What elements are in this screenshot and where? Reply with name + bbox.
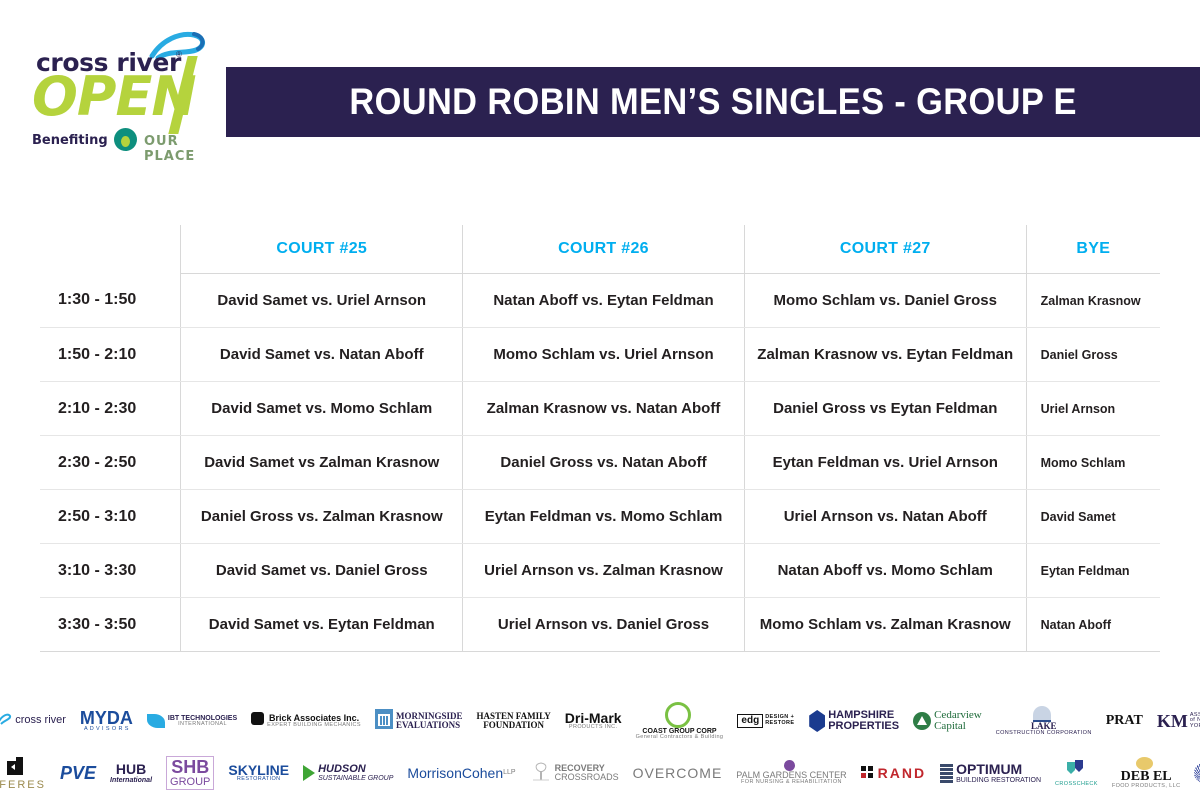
logo-registered-mark: ® bbox=[176, 50, 182, 59]
sponsor-logo-rand: RAND bbox=[861, 766, 926, 780]
sponsor-logo-edg-design-restore: edg DESIGN + RESTORE bbox=[737, 714, 795, 728]
table-row: 1:50 - 2:10 David Samet vs. Natan Aboff … bbox=[40, 328, 1160, 382]
cell-bye: Uriel Arnson bbox=[1026, 382, 1160, 436]
cell-time: 2:50 - 3:10 bbox=[40, 490, 181, 544]
cell-court-26: Zalman Krasnow vs. Natan Aboff bbox=[463, 382, 745, 436]
sponsor-logo-brick-associates: Brick Associates Inc. EXPERT BUILDING ME… bbox=[251, 712, 361, 729]
schedule-table: COURT #25 COURT #26 COURT #27 BYE 1:30 -… bbox=[40, 225, 1160, 652]
sponsor-logo-myda-advisors: MYDA A D V I S O R S bbox=[80, 709, 133, 733]
page-title: ROUND ROBIN MEN’S SINGLES - GROUP E bbox=[349, 81, 1076, 123]
column-header-court-25: COURT #25 bbox=[181, 225, 463, 274]
sponsor-logo-km-associates: KM ASSOCIATES of NEW YORK bbox=[1157, 712, 1200, 730]
sponsor-logo-deb-el: DEB EL FOOD PRODUCTS, LLC bbox=[1112, 757, 1181, 790]
sponsor-tagline: CROSSROADS bbox=[555, 773, 619, 782]
building-icon bbox=[375, 709, 393, 733]
sponsor-tagline: PRODUCTS INC. bbox=[569, 725, 618, 731]
sponsor-logo-skyline-restoration: SKYLINE RESTORATION bbox=[228, 763, 289, 783]
sponsor-name: HUDSON bbox=[318, 764, 366, 775]
sponsor-tagline: Capital bbox=[934, 721, 966, 732]
sponsor-logo-hasten-family-foundation: HASTEN FAMILY FOUNDATION bbox=[477, 712, 551, 730]
column-header-bye: BYE bbox=[1026, 225, 1160, 274]
sponsor-logo-shb-group: SHB GROUP bbox=[166, 756, 214, 790]
sponsor-logo-optimum-building-restoration: OPTIMUM BUILDING RESTORATION bbox=[940, 762, 1041, 783]
cell-court-25: Daniel Gross vs. Zalman Krasnow bbox=[181, 490, 463, 544]
cell-court-26: Natan Aboff vs. Eytan Feldman bbox=[463, 274, 745, 328]
logo-open-text: OPEN bbox=[32, 70, 196, 124]
cell-court-27: Daniel Gross vs Eytan Feldman bbox=[744, 382, 1026, 436]
cell-court-27: Uriel Arnson vs. Natan Aboff bbox=[744, 490, 1026, 544]
cell-bye: Eytan Feldman bbox=[1026, 544, 1160, 598]
sponsor-tagline: EVALUATIONS bbox=[396, 721, 460, 730]
sponsor-logo-lake-construction: LAKE CONSTRUCTION CORPORATION bbox=[996, 706, 1092, 737]
sponsor-logo-fan-emblem bbox=[1194, 763, 1200, 783]
sponsor-logo-hub-international: HUB International bbox=[110, 762, 152, 783]
sponsor-logo-morrison-cohen: MorrisonCohen LLP bbox=[407, 766, 515, 780]
beneficiary-label: OUR PLACE bbox=[144, 134, 210, 164]
cell-court-27: Momo Schlam vs. Zalman Krasnow bbox=[744, 598, 1026, 652]
sponsor-tagline: FOR NURSING & REHABILITATION bbox=[741, 780, 842, 786]
sponsor-name: TIFERES bbox=[0, 780, 46, 791]
cell-court-27: Eytan Feldman vs. Uriel Arnson bbox=[744, 436, 1026, 490]
sponsor-name: MorrisonCohen bbox=[407, 766, 503, 780]
table-row: 2:30 - 2:50 David Samet vs Zalman Krasno… bbox=[40, 436, 1160, 490]
brick-icon bbox=[251, 712, 264, 729]
sponsor-tagline: General Contractors & Building bbox=[636, 735, 724, 741]
sponsor-logo-cedarview-capital: Cedarview Capital bbox=[913, 710, 982, 732]
sponsor-logo-tiferes: TIFERES bbox=[0, 755, 46, 791]
sponsor-tagline: FOOD PRODUCTS, LLC bbox=[1112, 784, 1181, 790]
table-header-row: COURT #25 COURT #26 COURT #27 BYE bbox=[40, 225, 1160, 274]
our-place-icon bbox=[114, 128, 137, 151]
cell-bye: Zalman Krasnow bbox=[1026, 274, 1160, 328]
sponsor-tagline: A D V I S O R S bbox=[84, 727, 129, 733]
sponsor-logo-hudson-sustainable-group: HUDSON SUSTAINABLE GROUP bbox=[303, 764, 393, 782]
fan-icon bbox=[1194, 763, 1200, 783]
sponsor-tagline: INTERNATIONAL bbox=[178, 722, 227, 728]
sponsor-name: cross river bbox=[15, 715, 66, 726]
column-header-time bbox=[40, 225, 181, 274]
sponsor-tagline: GROUP bbox=[170, 777, 210, 788]
cell-time: 1:30 - 1:50 bbox=[40, 274, 181, 328]
sponsor-name: Dri-Mark bbox=[565, 711, 622, 725]
schedule-table-body: 1:30 - 1:50 David Samet vs. Uriel Arnson… bbox=[40, 274, 1160, 652]
sponsor-tagline: EXPERT BUILDING MECHANICS bbox=[267, 723, 361, 729]
ring-icon bbox=[665, 702, 691, 728]
sponsor-name: SKYLINE bbox=[228, 763, 289, 777]
swoosh-icon bbox=[0, 712, 12, 730]
sponsor-tagline: CONSTRUCTION CORPORATION bbox=[996, 731, 1092, 737]
hexagon-icon bbox=[809, 710, 825, 732]
sponsor-tagline: PROPERTIES bbox=[828, 721, 899, 732]
cell-court-25: David Samet vs. Eytan Feldman bbox=[181, 598, 463, 652]
sponsor-tagline: RESTORATION bbox=[237, 777, 281, 783]
cell-time: 1:50 - 2:10 bbox=[40, 328, 181, 382]
page-header: cross river ® OPEN Benefiting OUR PLACE … bbox=[0, 0, 1200, 200]
cell-court-25: David Samet vs. Natan Aboff bbox=[181, 328, 463, 382]
wave-icon bbox=[147, 714, 165, 728]
cell-time: 3:30 - 3:50 bbox=[40, 598, 181, 652]
sponsor-name: RAND bbox=[878, 766, 926, 780]
sponsor-logo-pve: PVE bbox=[60, 764, 96, 782]
sponsor-tagline: DESIGN + RESTORE bbox=[765, 715, 795, 726]
sponsor-row-1: cross river MYDA A D V I S O R S IBT TEC… bbox=[0, 695, 1200, 747]
sponsor-name: OVERCOME bbox=[633, 766, 723, 780]
cell-court-27: Natan Aboff vs. Momo Schlam bbox=[744, 544, 1026, 598]
table-row: 2:10 - 2:30 David Samet vs. Momo Schlam … bbox=[40, 382, 1160, 436]
sponsor-logo-morningside-evaluations: MORNINGSIDE EVALUATIONS bbox=[375, 709, 463, 733]
table-row: 1:30 - 1:50 David Samet vs. Uriel Arnson… bbox=[40, 274, 1160, 328]
cell-court-25: David Samet vs. Uriel Arnson bbox=[181, 274, 463, 328]
sponsor-tagline: International bbox=[110, 777, 152, 784]
cell-bye: Momo Schlam bbox=[1026, 436, 1160, 490]
sponsor-name: DEB EL bbox=[1121, 770, 1172, 784]
cell-bye: Natan Aboff bbox=[1026, 598, 1160, 652]
cell-court-27: Zalman Krasnow vs. Eytan Feldman bbox=[744, 328, 1026, 382]
sponsor-name: SHB bbox=[171, 758, 209, 776]
sponsor-name: PRAT bbox=[1106, 714, 1143, 728]
title-banner: ROUND ROBIN MEN’S SINGLES - GROUP E bbox=[226, 67, 1200, 137]
tree-icon bbox=[530, 760, 552, 786]
arrow-icon bbox=[3, 755, 25, 779]
sponsor-logo-hampshire-properties: HAMPSHIRE PROPERTIES bbox=[809, 710, 899, 732]
cell-court-27: Momo Schlam vs. Daniel Gross bbox=[744, 274, 1026, 328]
sponsor-bar: cross river MYDA A D V I S O R S IBT TEC… bbox=[0, 695, 1200, 800]
arch-icon bbox=[1033, 706, 1051, 722]
building-icon bbox=[940, 763, 953, 783]
check-icon bbox=[1065, 758, 1085, 782]
tree-circle-icon bbox=[913, 712, 931, 730]
cell-court-25: David Samet vs. Daniel Gross bbox=[181, 544, 463, 598]
sponsor-name: OPTIMUM bbox=[956, 762, 1022, 776]
sponsor-tagline: LLP bbox=[503, 769, 515, 776]
sponsor-name: HUB bbox=[116, 762, 146, 776]
sponsor-tagline: SUSTAINABLE GROUP bbox=[318, 775, 393, 782]
sponsor-tagline: BUILDING RESTORATION bbox=[956, 777, 1041, 784]
benefiting-label: Benefiting bbox=[32, 133, 108, 148]
sponsor-name: PVE bbox=[60, 764, 96, 782]
table-row: 2:50 - 3:10 Daniel Gross vs. Zalman Kras… bbox=[40, 490, 1160, 544]
sponsor-tagline: ASSOCIATES of NEW YORK bbox=[1190, 713, 1200, 730]
sponsor-logo-coast-group-corp: COAST GROUP CORP General Contractors & B… bbox=[636, 702, 724, 741]
cell-bye: Daniel Gross bbox=[1026, 328, 1160, 382]
sponsor-logo-crosscheck: CROSSCHECK bbox=[1055, 758, 1098, 788]
sponsor-tagline: FOUNDATION bbox=[483, 721, 544, 730]
sponsor-logo-overcome: OVERCOME bbox=[633, 766, 723, 780]
cell-time: 3:10 - 3:30 bbox=[40, 544, 181, 598]
squares-icon bbox=[861, 766, 875, 780]
sponsor-name: edg bbox=[737, 714, 763, 728]
sponsor-logo-cross-river: cross river bbox=[0, 712, 66, 730]
cell-court-26: Daniel Gross vs. Natan Aboff bbox=[463, 436, 745, 490]
table-row: 3:30 - 3:50 David Samet vs. Eytan Feldma… bbox=[40, 598, 1160, 652]
sponsor-row-2: TIFERES PVE HUB International SHB GROUP … bbox=[0, 747, 1200, 799]
sponsor-name: CROSSCHECK bbox=[1055, 782, 1098, 788]
cell-bye: David Samet bbox=[1026, 490, 1160, 544]
cell-time: 2:30 - 2:50 bbox=[40, 436, 181, 490]
cell-court-26: Uriel Arnson vs. Daniel Gross bbox=[463, 598, 745, 652]
sponsor-name: KM bbox=[1157, 712, 1188, 730]
cell-court-25: David Samet vs. Momo Schlam bbox=[181, 382, 463, 436]
sponsor-name: MYDA bbox=[80, 709, 133, 727]
sponsor-logo-recovery-crossroads: RECOVERY CROSSROADS bbox=[530, 760, 619, 786]
column-header-court-27: COURT #27 bbox=[744, 225, 1026, 274]
sponsor-logo-ibt-technologies: IBT TECHNOLOGIES INTERNATIONAL bbox=[147, 714, 237, 728]
cell-court-26: Momo Schlam vs. Uriel Arnson bbox=[463, 328, 745, 382]
egg-icon bbox=[1136, 757, 1153, 770]
cell-court-26: Eytan Feldman vs. Momo Schlam bbox=[463, 490, 745, 544]
cell-court-26: Uriel Arnson vs. Zalman Krasnow bbox=[463, 544, 745, 598]
column-header-court-26: COURT #26 bbox=[463, 225, 745, 274]
chevron-icon bbox=[303, 765, 315, 781]
sponsor-logo-prat: PRAT bbox=[1106, 714, 1143, 728]
cell-time: 2:10 - 2:30 bbox=[40, 382, 181, 436]
cell-court-25: David Samet vs Zalman Krasnow bbox=[181, 436, 463, 490]
table-row: 3:10 - 3:30 David Samet vs. Daniel Gross… bbox=[40, 544, 1160, 598]
sponsor-logo-dri-mark: Dri-Mark PRODUCTS INC. bbox=[565, 711, 622, 731]
sponsor-logo-palm-gardens-center: PALM GARDENS CENTER FOR NURSING & REHABI… bbox=[736, 760, 846, 786]
cross-river-open-logo: cross river ® OPEN Benefiting OUR PLACE bbox=[30, 28, 210, 153]
